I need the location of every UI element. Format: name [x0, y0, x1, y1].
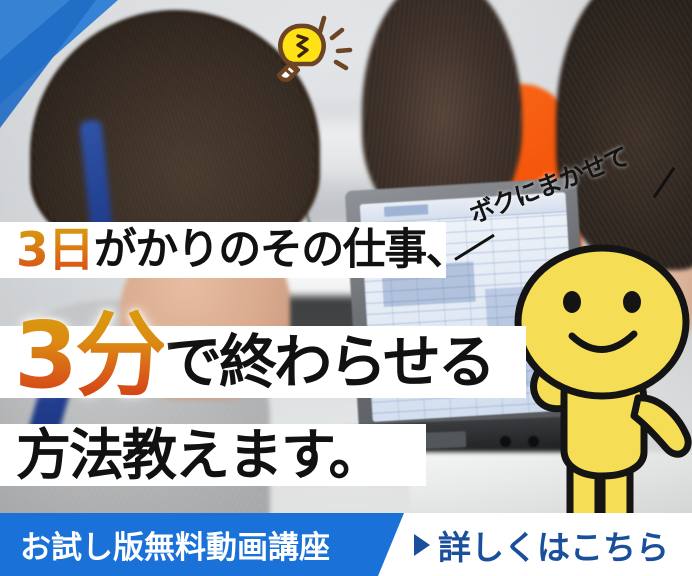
headline-line-2: 3分で終わらせる — [0, 326, 526, 398]
ad-banner[interactable]: ボクにまかせて 3日がかりのその — [0, 0, 692, 576]
headline-line-1-rest: がかりのその仕事、 — [94, 229, 468, 272]
headline-line-3: 方法教えます。 — [0, 424, 426, 486]
headline-line-3-text: 方法教えます。 — [16, 428, 382, 483]
photo-person-right-hair-texture — [560, 0, 692, 269]
cta-badge-label: お試し版無料動画講座 — [20, 522, 330, 567]
photo-laptop-trackpad — [420, 431, 467, 449]
headline-line-1: 3日がかりのその仕事、 — [0, 222, 446, 278]
cta-details-link-label: 詳しくはこちら — [438, 521, 669, 569]
corner-accent-shape-pale — [0, 0, 70, 60]
play-triangle-icon — [414, 534, 430, 556]
lightbulb-icon — [262, 6, 358, 84]
headline-accent-3minutes: 3分 — [14, 310, 164, 402]
cta-details-link[interactable]: 詳しくはこちら — [414, 513, 669, 576]
cta-bar[interactable]: お試し版無料動画講座 詳しくはこちら — [0, 513, 692, 576]
headline-line-2-rest: で終わらせる — [164, 333, 493, 391]
cta-badge[interactable]: お試し版無料動画講座 — [0, 513, 420, 576]
headline-accent-3days: 3日 — [16, 227, 94, 274]
